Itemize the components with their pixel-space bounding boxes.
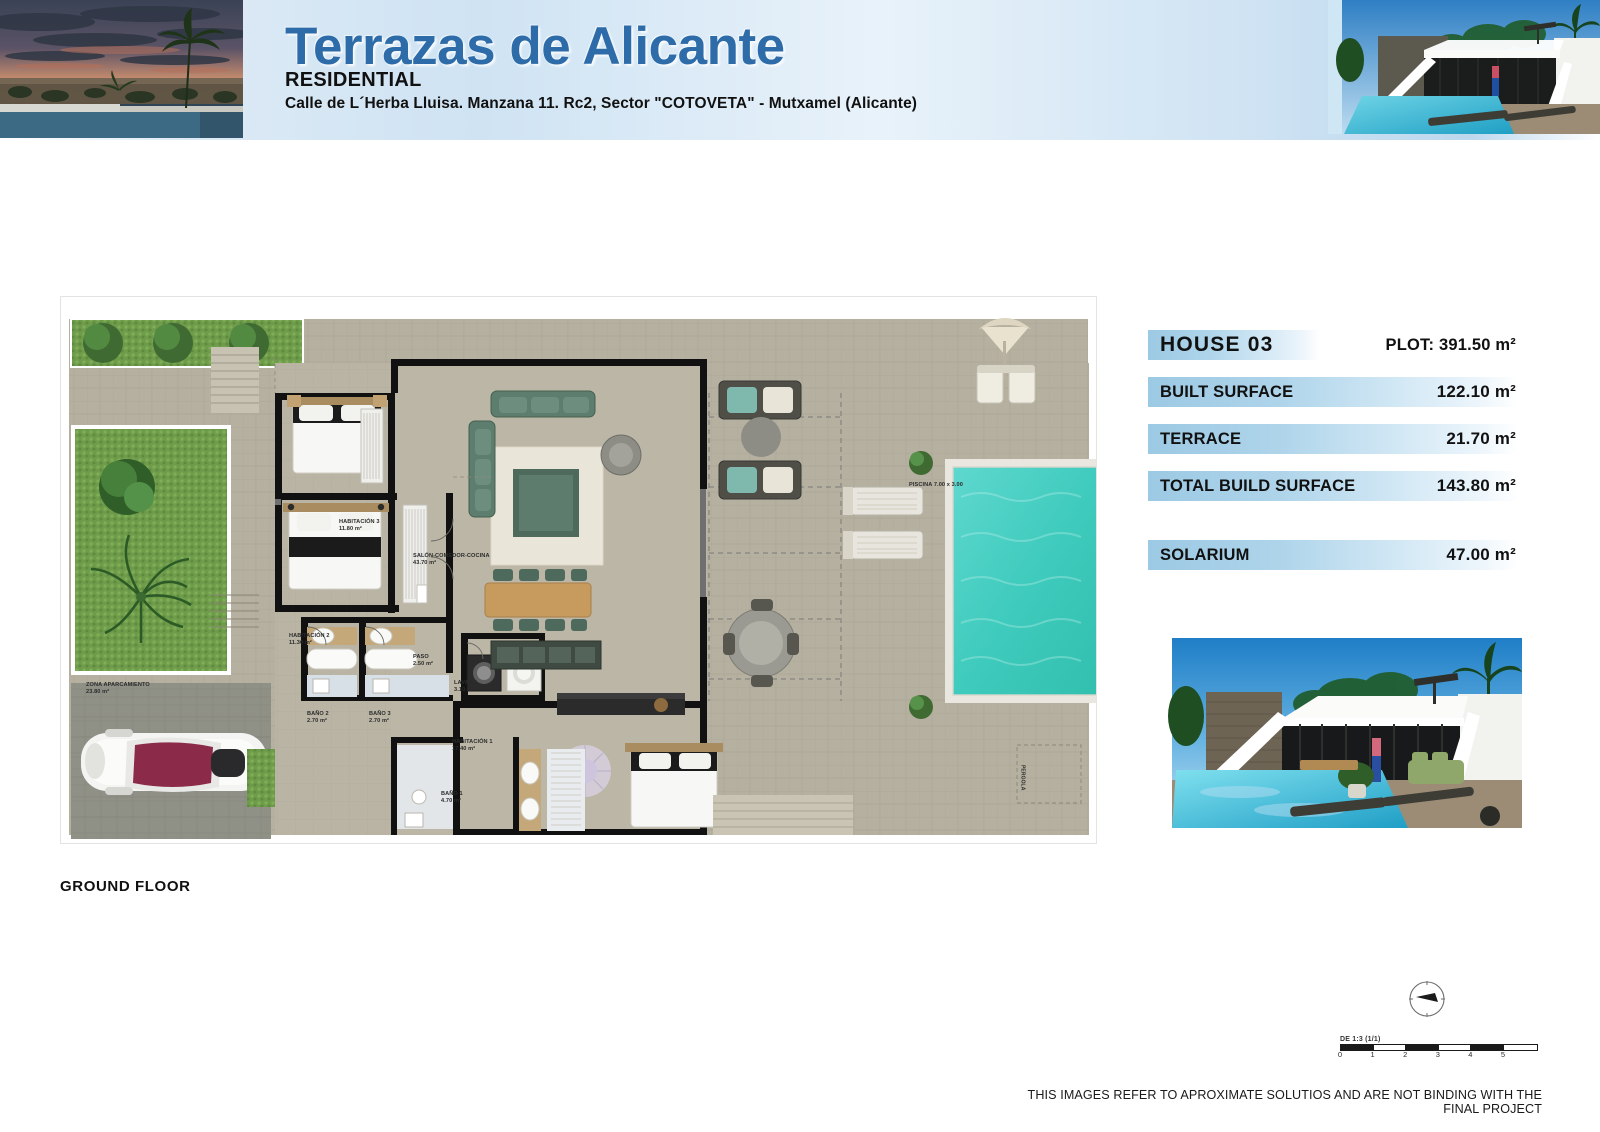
spec-label-solarium: SOLARIUM — [1160, 540, 1250, 570]
spec-row-total-build-surface: TOTAL BUILD SURFACE 143.80 m² — [1148, 471, 1518, 501]
spec-label-built-surface: BUILT SURFACE — [1160, 377, 1293, 407]
project-address: Calle de L´Herba Lluisa. Manzana 11. Rc2… — [285, 95, 1185, 113]
spec-label-total-build-surface: TOTAL BUILD SURFACE — [1160, 471, 1355, 501]
room-label-zona-aparcamiento: ZONA APARCAMIENTO23.80 m² — [86, 682, 150, 696]
header-photo-left — [0, 0, 243, 138]
spec-value-built-surface: 122.10 m² — [1437, 377, 1516, 407]
room-label-lavado: LAVADO3.10 m² — [454, 680, 477, 694]
spec-value-plot: PLOT: 391.50 m² — [1386, 330, 1516, 360]
pool-label: PISCINA 7.00 x 3.00 — [909, 482, 963, 489]
room-label-habitacion-2: HABITACIÓN 211.30 m² — [289, 633, 330, 647]
room-label-habitacion-3: HABITACIÓN 311.80 m² — [339, 519, 380, 533]
scale-bar: DE 1:3 (1/1) 0 1 2 3 4 5 — [1340, 1036, 1540, 1061]
spec-row-house: HOUSE 03 PLOT: 391.50 m² — [1148, 330, 1518, 360]
disclaimer-text: THIS IMAGES REFER TO APROXIMATE SOLUTIOS… — [1008, 1088, 1542, 1116]
spec-label-house: HOUSE 03 — [1160, 330, 1273, 360]
room-label-bano-2: BAÑO 22.70 m² — [307, 711, 329, 725]
spec-value-terrace: 21.70 m² — [1446, 424, 1516, 454]
spec-value-total-build-surface: 143.80 m² — [1437, 471, 1516, 501]
room-label-paso: PASO2.50 m² — [413, 654, 433, 668]
scale-tick: 5 — [1501, 1050, 1505, 1059]
room-label-salon-comedor-cocina: SALÓN-COMEDOR-COCINA43.70 m² — [413, 553, 490, 567]
spec-row-terrace: TERRACE 21.70 m² — [1148, 424, 1518, 454]
specifications-panel: HOUSE 03 PLOT: 391.50 m² BUILT SURFACE 1… — [1148, 330, 1518, 587]
room-label-habitacion-1: HABITACIÓN 117.40 m² — [452, 739, 493, 753]
title-block: Terrazas de Alicante RESIDENTIAL Calle d… — [285, 20, 1185, 113]
scale-tick: 0 — [1338, 1050, 1342, 1059]
page-header: Terrazas de Alicante RESIDENTIAL Calle d… — [0, 0, 1600, 140]
floor-plan-drawing — [61, 297, 1096, 843]
pergola-label: PERGOLA — [1019, 765, 1025, 790]
spec-row-built-surface: BUILT SURFACE 122.10 m² — [1148, 377, 1518, 407]
north-compass-icon — [1404, 976, 1450, 1022]
scale-label: DE 1:3 (1/1) — [1340, 1036, 1540, 1043]
header-photo-right — [1328, 0, 1600, 134]
spec-label-terrace: TERRACE — [1160, 424, 1241, 454]
room-label-bano-3: BAÑO 32.70 m² — [369, 711, 391, 725]
spec-value-solarium: 47.00 m² — [1446, 540, 1516, 570]
scale-tick: 2 — [1403, 1050, 1407, 1059]
page-title: Terrazas de Alicante — [285, 20, 1185, 73]
scale-ticks: 0 1 2 3 4 5 — [1340, 1050, 1536, 1061]
room-label-bano-1: BAÑO 14.70 m² — [441, 791, 463, 805]
scale-tick: 4 — [1468, 1050, 1472, 1059]
spec-row-solarium: SOLARIUM 47.00 m² — [1148, 540, 1518, 570]
scale-tick: 3 — [1436, 1050, 1440, 1059]
floor-label: GROUND FLOOR — [60, 878, 191, 895]
floor-plan: HABITACIÓN 311.80 m² HABITACIÓN 211.30 m… — [60, 296, 1097, 844]
villa-render-photo — [1150, 620, 1522, 828]
spec-divider — [1148, 518, 1518, 540]
scale-tick: 1 — [1371, 1050, 1375, 1059]
